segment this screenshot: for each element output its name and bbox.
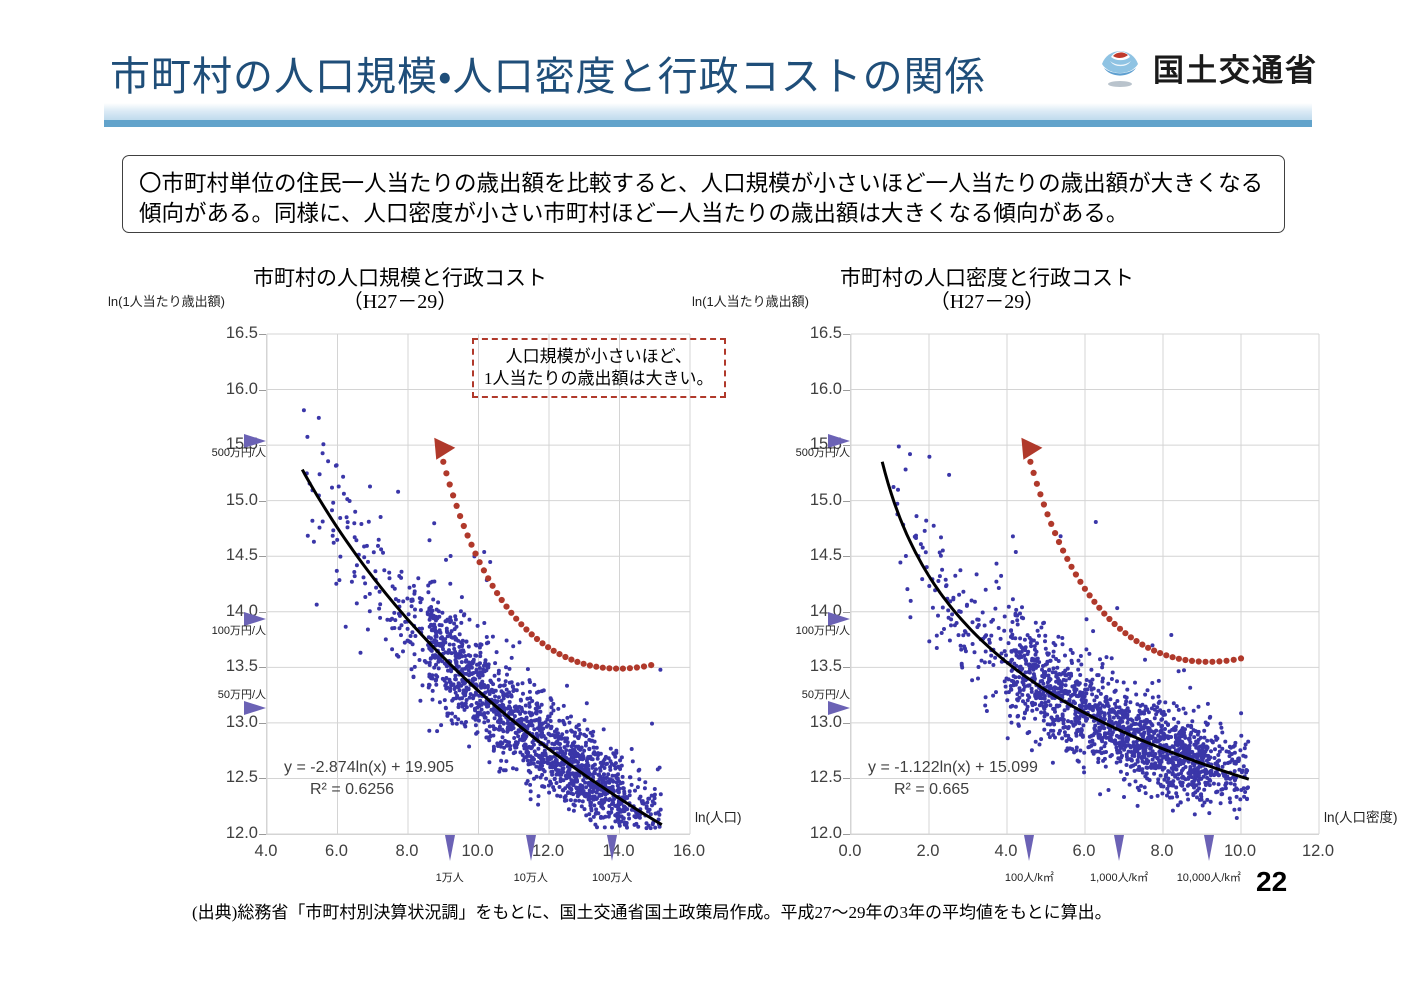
r-squared-left: R² = 0.6256 [284,779,454,801]
annotation-left-line2: 1人当たりの歳出額は大きい。 [484,368,714,390]
y-marker-label: 500万円/人 [212,448,266,459]
ministry-logo: 国土交通省 [1097,44,1318,90]
r-squared-right: R² = 0.665 [868,779,1038,801]
x-marker-label: 10,000人/k㎡ [1177,873,1241,884]
y-tick-mark [259,556,266,557]
marker-triangle-icon [828,701,850,715]
y-marker-label: 50万円/人 [802,690,850,701]
y-tick-label: 13.5 [202,657,258,676]
y-tick-mark [843,390,850,391]
x-tick-label: 12.0 [1283,842,1353,861]
x-tick-label: 6.0 [302,842,372,861]
trend-arrow-annotation [434,438,654,672]
y-tick-label: 12.0 [202,824,258,843]
marker-triangle-icon [244,701,266,715]
x-marker-label: 1万人 [436,873,464,884]
chart-title-left-main: 市町村の人口規模と行政コスト [100,266,700,291]
marker-triangle-icon [244,434,266,448]
chart-population-scale: 市町村の人口規模と行政コスト （H27－29） ln(1人当たり歳出額) 人口規… [100,258,700,898]
marker-triangle-icon [445,835,455,861]
summary-text: 〇市町村単位の住民一人当たりの歳出額を比較すると、人口規模が小さいほど一人当たり… [139,169,1268,229]
y-tick-label: 14.5 [786,546,842,565]
y-tick-label: 14.5 [202,546,258,565]
header-gradient-band [104,103,1312,121]
page-title: 市町村の人口規模・人口密度と行政コストの関係 [110,44,986,102]
x-value-marker: 100人/k㎡ [984,835,1074,884]
y-axis-label-left: ln(1人当たり歳出額) [108,291,225,310]
y-tick-label: 13.0 [786,713,842,732]
y-tick-mark [259,501,266,502]
y-marker-label: 100万円/人 [212,626,266,637]
y-tick-label: 16.5 [202,324,258,343]
x-marker-label: 100万人 [592,873,632,884]
arrow-head-icon [434,438,455,460]
page-number: 22 [1256,866,1287,898]
y-value-marker: 100万円/人 [754,612,850,637]
chart-population-density: 市町村の人口密度と行政コスト （H27－29） ln(1人当たり歳出額) 人口密… [687,258,1287,898]
marker-triangle-icon [828,612,850,626]
y-tick-mark [843,556,850,557]
y-value-marker: 500万円/人 [170,434,266,459]
header-rule [104,120,1312,127]
y-tick-label: 13.0 [202,713,258,732]
x-value-marker: 1万人 [405,835,495,884]
y-value-marker: 50万円/人 [754,690,850,715]
y-tick-mark [259,723,266,724]
regression-equation-left: y = -2.874ln(x) + 19.905 R² = 0.6256 [284,757,454,800]
x-marker-label: 10万人 [514,873,548,884]
y-tick-mark [259,667,266,668]
y-tick-label: 15.0 [202,491,258,510]
y-marker-label: 50万円/人 [218,690,266,701]
chart-title-right-main: 市町村の人口密度と行政コスト [687,266,1287,291]
regression-equation-right: y = -1.122ln(x) + 15.099 R² = 0.665 [868,757,1038,800]
y-value-marker: 500万円/人 [754,434,850,459]
y-tick-mark [259,390,266,391]
y-value-marker: 50万円/人 [170,690,266,715]
y-tick-mark [843,334,850,335]
x-marker-label: 1,000人/k㎡ [1090,873,1148,884]
x-value-marker: 100万人 [567,835,657,884]
y-tick-mark [259,778,266,779]
marker-triangle-icon [1114,835,1124,861]
y-tick-mark [843,834,850,835]
y-marker-label: 500万円/人 [796,448,850,459]
y-tick-label: 12.5 [202,768,258,787]
x-axis-label-right: ln(人口密度) [1324,806,1398,826]
annotation-left-line1: 人口規模が小さいほど、 [484,346,714,368]
y-tick-label: 16.5 [786,324,842,343]
marker-triangle-icon [1024,835,1034,861]
y-axis-label-right: ln(1人当たり歳出額) [692,291,809,310]
marker-triangle-icon [526,835,536,861]
y-tick-label: 12.0 [786,824,842,843]
marker-triangle-icon [607,835,617,861]
marker-triangle-icon [1204,835,1214,861]
y-tick-mark [259,334,266,335]
y-tick-mark [843,723,850,724]
x-value-marker: 10万人 [486,835,576,884]
y-tick-mark [843,778,850,779]
y-tick-mark [259,834,266,835]
source-note: (出典)総務省「市町村別決算状況調」をもとに、国土交通省国土政策局作成。平成27… [192,898,1112,923]
y-tick-label: 15.0 [786,491,842,510]
trend-arrow-annotation [1021,438,1244,665]
summary-callout-box: 〇市町村単位の住民一人当たりの歳出額を比較すると、人口規模が小さいほど一人当たり… [122,155,1285,233]
arrow-head-icon [1021,438,1042,460]
x-value-marker: 10,000人/k㎡ [1164,835,1254,884]
marker-triangle-icon [828,434,850,448]
equation-left-text: y = -2.874ln(x) + 19.905 [284,759,454,776]
y-tick-label: 12.5 [786,768,842,787]
marker-triangle-icon [244,612,266,626]
y-tick-label: 16.0 [786,380,842,399]
x-tick-label: 2.0 [893,842,963,861]
y-value-marker: 100万円/人 [170,612,266,637]
slide-header: 市町村の人口規模・人口密度と行政コストの関係 国土交通省 [0,0,1403,140]
x-marker-label: 100人/k㎡ [1005,873,1054,884]
y-tick-mark [843,501,850,502]
y-tick-mark [843,667,850,668]
x-tick-label: 4.0 [231,842,301,861]
y-marker-label: 100万円/人 [796,626,850,637]
mlit-wave-logo-icon [1097,44,1143,90]
x-value-marker: 1,000人/k㎡ [1074,835,1164,884]
x-tick-label: 0.0 [815,842,885,861]
ministry-name: 国土交通省 [1153,45,1318,90]
y-tick-label: 13.5 [786,657,842,676]
equation-right-text: y = -1.122ln(x) + 15.099 [868,759,1038,776]
y-tick-label: 16.0 [202,380,258,399]
